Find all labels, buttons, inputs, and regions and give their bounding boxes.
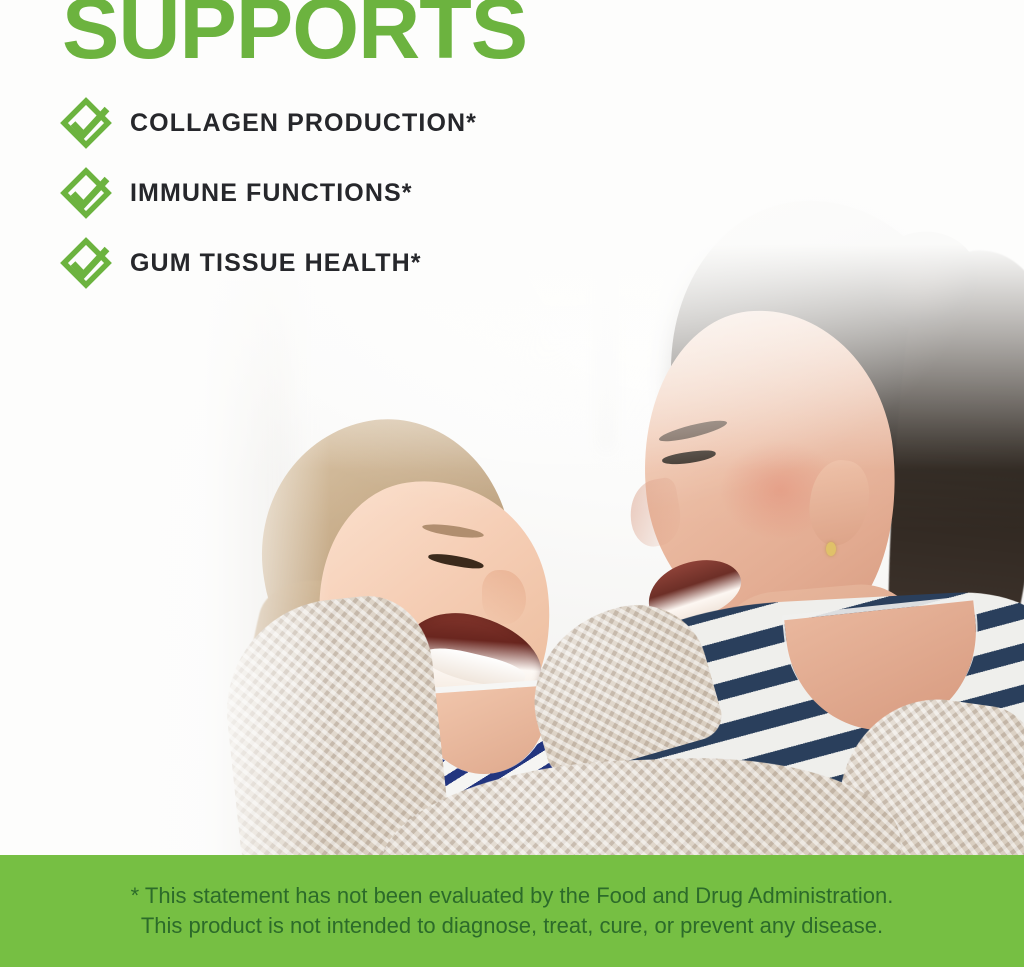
benefit-label: COLLAGEN PRODUCTION* <box>130 109 477 138</box>
benefit-list: COLLAGEN PRODUCTION* IMMUNE FUNCTIONS* <box>60 88 477 298</box>
disclaimer-banner: * This statement has not been evaluated … <box>0 855 1024 967</box>
list-item: COLLAGEN PRODUCTION* <box>60 88 477 158</box>
benefit-label: GUM TISSUE HEALTH* <box>130 249 422 278</box>
disclaimer-line-2: This product is not intended to diagnose… <box>131 911 894 941</box>
content-layer: SUPPORTS COLLAGEN PRODUCTION* <box>0 0 1024 967</box>
product-benefits-panel: SUPPORTS COLLAGEN PRODUCTION* <box>0 0 1024 967</box>
diamond-check-icon <box>60 97 112 149</box>
diamond-check-icon <box>60 167 112 219</box>
benefit-label: IMMUNE FUNCTIONS* <box>130 179 413 208</box>
page-title: SUPPORTS <box>62 0 527 72</box>
diamond-check-icon <box>60 237 112 289</box>
list-item: GUM TISSUE HEALTH* <box>60 228 477 298</box>
disclaimer-line-1: * This statement has not been evaluated … <box>131 881 894 911</box>
list-item: IMMUNE FUNCTIONS* <box>60 158 477 228</box>
disclaimer-text: * This statement has not been evaluated … <box>131 881 894 942</box>
